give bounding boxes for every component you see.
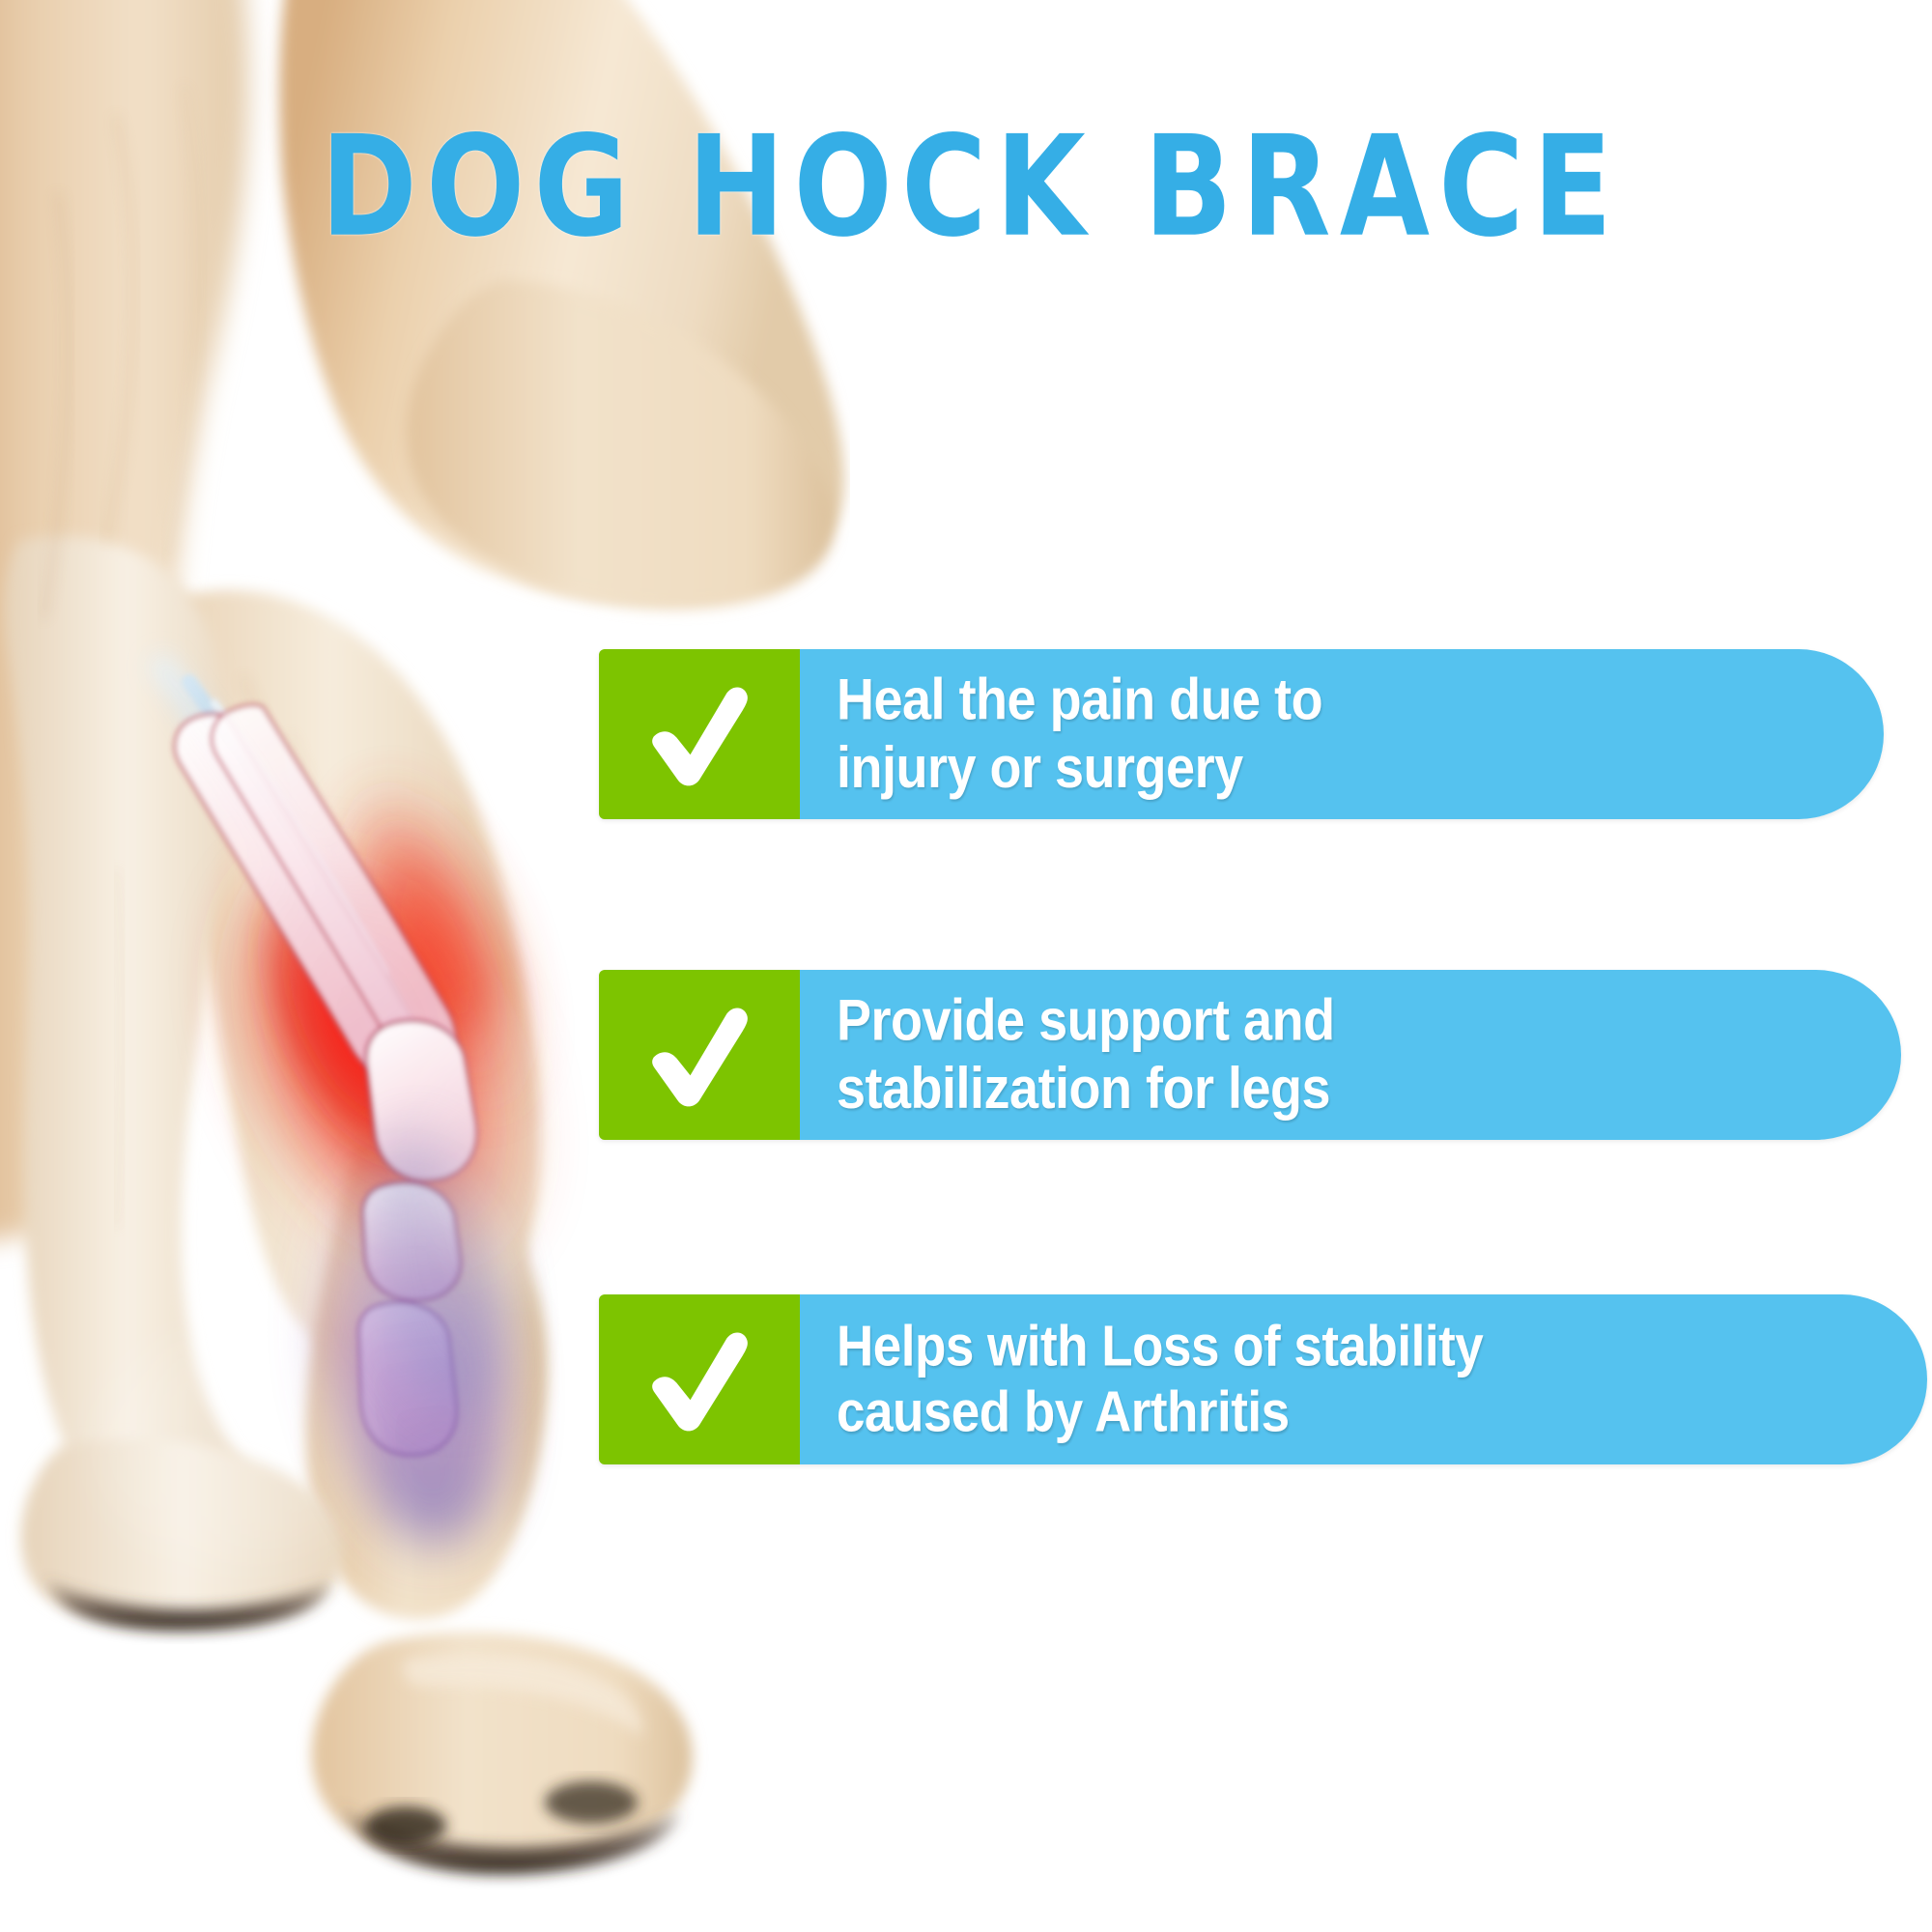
feature-label: Heal the pain due to injury or surgery: [837, 667, 1322, 802]
feature-bar-heal-pain: Heal the pain due to injury or surgery: [599, 649, 1884, 819]
checkmark-icon: [642, 1322, 756, 1436]
feature-text-container: Helps with Loss of stability caused by A…: [800, 1294, 1927, 1464]
feature-bar-loss-of-stability: Helps with Loss of stability caused by A…: [599, 1294, 1927, 1464]
feature-check-container: [599, 970, 800, 1140]
feature-bar-provide-support: Provide support and stabilization for le…: [599, 970, 1901, 1140]
feature-check-container: [599, 649, 800, 819]
product-infographic: DOG HOCK BRACE Heal the pain due to inju…: [0, 0, 1932, 1932]
feature-label: Provide support and stabilization for le…: [837, 987, 1335, 1122]
feature-label: Helps with Loss of stability caused by A…: [837, 1313, 1483, 1446]
feature-text-container: Heal the pain due to injury or surgery: [800, 649, 1884, 819]
feature-check-container: [599, 1294, 800, 1464]
feature-text-container: Provide support and stabilization for le…: [800, 970, 1901, 1140]
dog-legs-photo: [0, 0, 850, 1932]
page-title: DOG HOCK BRACE: [232, 114, 1710, 260]
checkmark-icon: [642, 998, 756, 1112]
checkmark-icon: [642, 677, 756, 791]
